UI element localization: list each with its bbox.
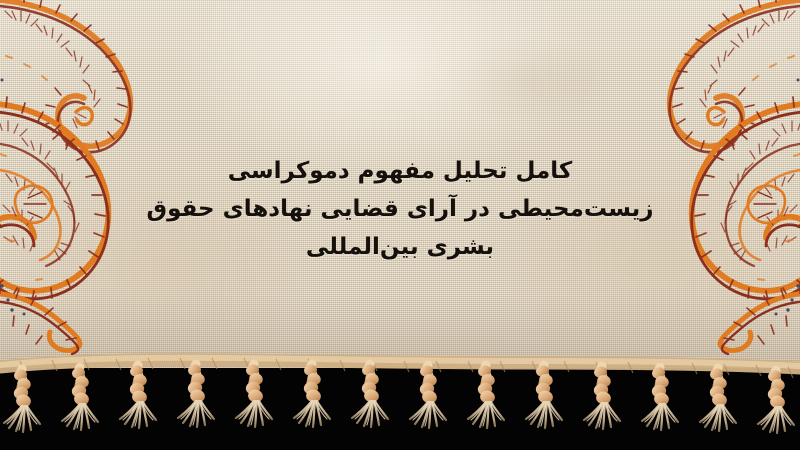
title-line-3: بشری بین‌المللی — [0, 228, 800, 266]
slide-canvas: کامل تحلیل مفهوم دموکراسی زیست‌محیطی در … — [0, 0, 800, 450]
title-line-1: کامل تحلیل مفهوم دموکراسی — [0, 152, 800, 190]
title-line-2: زیست‌محیطی در آرای قضایی نهادهای حقوق — [0, 190, 800, 228]
slide-title: کامل تحلیل مفهوم دموکراسی زیست‌محیطی در … — [0, 152, 800, 266]
black-background — [0, 368, 800, 450]
